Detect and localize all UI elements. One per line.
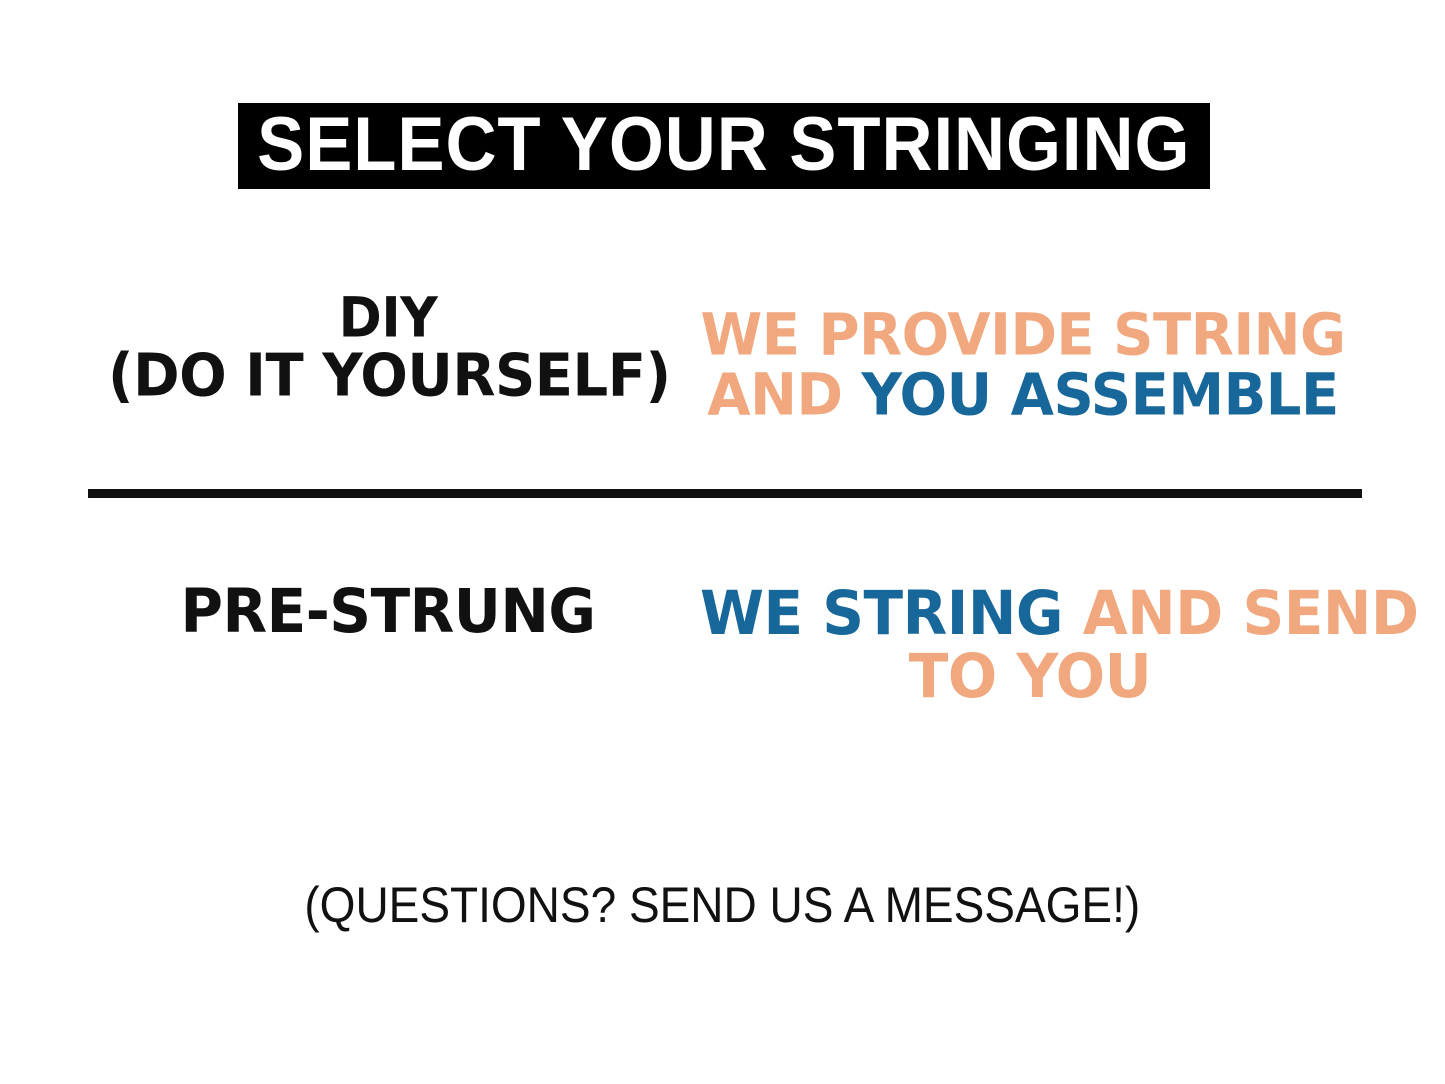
option-diy-label-line2: (DO IT YOURSELF) — [108, 347, 668, 406]
page-title: SELECT YOUR STRINGING — [257, 107, 1190, 186]
section-divider — [88, 489, 1362, 498]
footer-note-text: (QUESTIONS? SEND US A MESSAGE!) — [304, 878, 1140, 933]
option-diy-description-line2-you-assemble: YOU ASSEMBLE — [861, 362, 1338, 430]
option-pre-strung-label-line1: PRE-STRUNG — [108, 581, 668, 642]
option-diy-description-line1: WE PROVIDE STRING — [700, 305, 1346, 368]
option-pre-strung-description-line1: WE STRING AND SEND — [700, 581, 1360, 646]
option-pre-strung-description-and-send: AND SEND — [1083, 578, 1419, 649]
option-pre-strung-description-we-string: WE STRING — [700, 578, 1063, 649]
title-banner: SELECT YOUR STRINGING — [238, 103, 1210, 189]
option-pre-strung-label[interactable]: PRE-STRUNG — [108, 582, 668, 640]
poster-canvas: SELECT YOUR STRINGING DIY (DO IT YOURSEL… — [0, 0, 1445, 1084]
footer-note: (QUESTIONS? SEND US A MESSAGE!) — [0, 878, 1445, 933]
option-diy-label[interactable]: DIY (DO IT YOURSELF) — [108, 296, 668, 403]
option-diy-description-line2: AND YOU ASSEMBLE — [700, 365, 1346, 428]
option-pre-strung-description: WE STRING AND SEND TO YOU — [700, 582, 1360, 707]
option-pre-strung-description-space — [1063, 578, 1083, 649]
option-diy-description-line2-and: AND — [707, 362, 842, 430]
option-pre-strung-description-line2: TO YOU — [700, 643, 1360, 708]
option-diy-description-line2-space — [842, 362, 861, 430]
option-diy-description: WE PROVIDE STRING AND YOU ASSEMBLE — [700, 306, 1346, 427]
option-diy-label-line1: DIY — [108, 293, 668, 345]
